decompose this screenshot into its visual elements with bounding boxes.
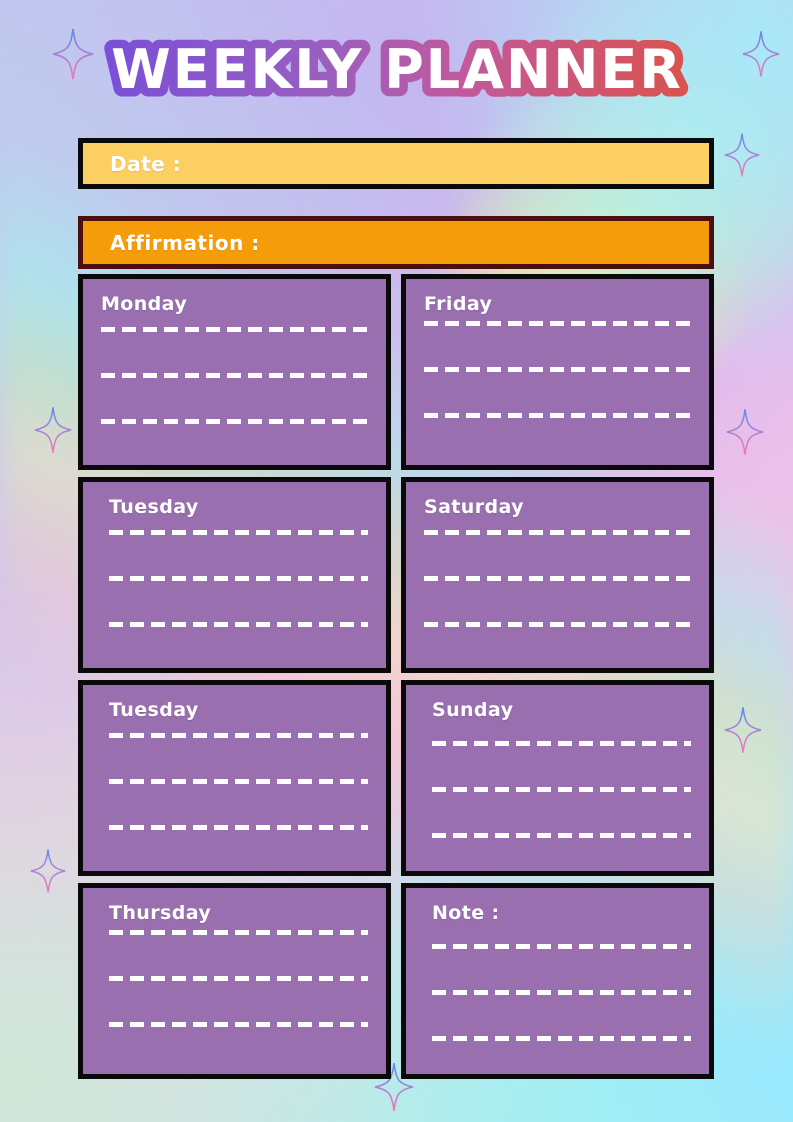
- writing-line[interactable]: [109, 779, 368, 784]
- writing-line[interactable]: [432, 741, 691, 746]
- writing-lines[interactable]: [424, 321, 691, 418]
- planner-page: WEEKLY PLANNER WEEKLY PLANNER Date : Aff…: [0, 0, 793, 1122]
- writing-line[interactable]: [424, 622, 691, 627]
- writing-line[interactable]: [432, 990, 691, 995]
- day-grid: Monday Friday Tuesday: [78, 274, 714, 1079]
- writing-line[interactable]: [101, 373, 368, 378]
- writing-line[interactable]: [424, 413, 691, 418]
- day-cell-tuesday[interactable]: Tuesday: [78, 477, 391, 673]
- day-cell-sunday[interactable]: Sunday: [401, 680, 714, 876]
- writing-line[interactable]: [109, 622, 368, 627]
- note-cell[interactable]: Note :: [401, 883, 714, 1079]
- writing-line[interactable]: [424, 576, 691, 581]
- four-point-sparkle-icon: [30, 848, 66, 894]
- writing-line[interactable]: [109, 530, 368, 535]
- writing-line[interactable]: [424, 530, 691, 535]
- writing-lines[interactable]: [424, 741, 691, 838]
- writing-line[interactable]: [424, 367, 691, 372]
- day-cell-wednesday[interactable]: Tuesday: [78, 680, 391, 876]
- four-point-sparkle-icon: [724, 706, 762, 754]
- four-point-sparkle-icon: [34, 406, 72, 454]
- date-field-row[interactable]: Date :: [78, 138, 714, 189]
- writing-line[interactable]: [109, 976, 368, 981]
- writing-line[interactable]: [109, 825, 368, 830]
- writing-lines[interactable]: [424, 530, 691, 627]
- day-cell-thursday[interactable]: Thursday: [78, 883, 391, 1079]
- day-label-saturday: Saturday: [424, 496, 691, 518]
- day-label-monday: Monday: [101, 293, 368, 315]
- writing-line[interactable]: [432, 833, 691, 838]
- writing-lines[interactable]: [101, 530, 368, 627]
- writing-line[interactable]: [432, 944, 691, 949]
- day-cell-saturday[interactable]: Saturday: [401, 477, 714, 673]
- planner-sheet: Date : Affirmation : Monday Friday: [78, 138, 714, 1079]
- four-point-sparkle-icon: [724, 132, 760, 178]
- writing-line[interactable]: [101, 327, 368, 332]
- four-point-sparkle-icon: [726, 408, 764, 456]
- writing-lines[interactable]: [101, 327, 368, 424]
- writing-line[interactable]: [109, 576, 368, 581]
- date-label: Date :: [110, 152, 181, 176]
- writing-line[interactable]: [424, 321, 691, 326]
- day-label-tuesday: Tuesday: [101, 496, 368, 518]
- page-title: WEEKLY PLANNER WEEKLY PLANNER: [0, 30, 793, 114]
- day-label-wednesday: Tuesday: [101, 699, 368, 721]
- writing-line[interactable]: [432, 1036, 691, 1041]
- writing-line[interactable]: [101, 419, 368, 424]
- planner-title-text: WEEKLY PLANNER: [111, 38, 683, 101]
- writing-line[interactable]: [109, 930, 368, 935]
- writing-lines[interactable]: [424, 944, 691, 1041]
- day-label-friday: Friday: [424, 293, 691, 315]
- planner-title-art: WEEKLY PLANNER WEEKLY PLANNER: [87, 30, 707, 110]
- writing-lines[interactable]: [101, 930, 368, 1027]
- writing-line[interactable]: [109, 1022, 368, 1027]
- day-label-thursday: Thursday: [101, 902, 368, 924]
- note-label: Note :: [424, 902, 691, 924]
- writing-line[interactable]: [109, 733, 368, 738]
- writing-lines[interactable]: [101, 733, 368, 830]
- affirmation-field-row[interactable]: Affirmation :: [78, 216, 714, 269]
- writing-line[interactable]: [432, 787, 691, 792]
- day-cell-friday[interactable]: Friday: [401, 274, 714, 470]
- day-label-sunday: Sunday: [424, 699, 691, 721]
- affirmation-label: Affirmation :: [110, 231, 260, 255]
- day-cell-monday[interactable]: Monday: [78, 274, 391, 470]
